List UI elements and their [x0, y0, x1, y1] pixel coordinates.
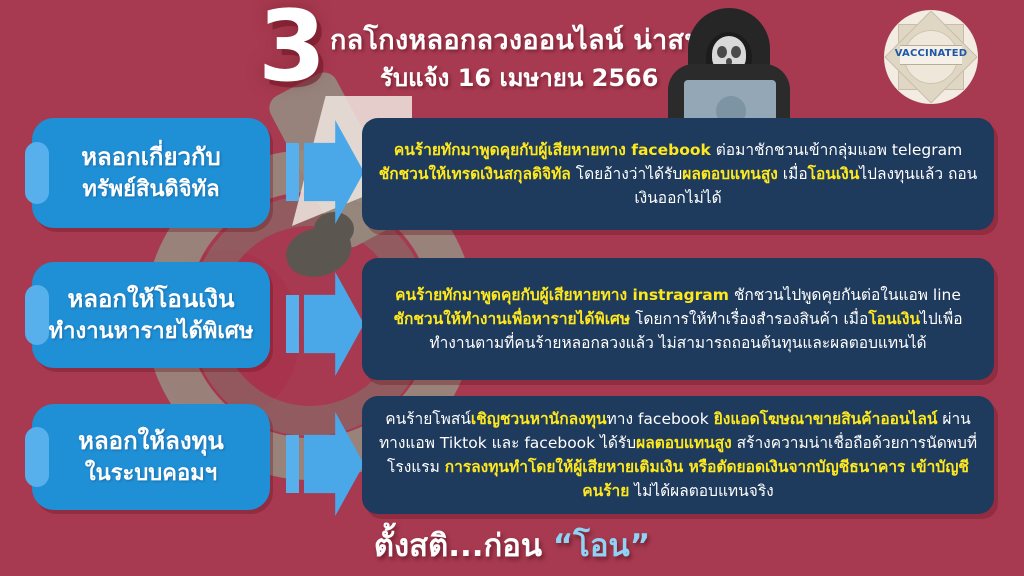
footer-slogan-text: ตั้งสติ...ก่อน: [374, 528, 553, 564]
label-tab-accent: [25, 285, 49, 344]
sidebar-item-label-line1: หลอกเกี่ยวกับ: [81, 142, 221, 172]
header: 3 กลโกงหลอกลวงออนไลน์ น่าสนใจ รับแจ้ง 16…: [0, 0, 1024, 118]
skull-eye-left: [717, 46, 727, 58]
arrow-bar: [286, 143, 299, 201]
arrow-head: [304, 120, 364, 224]
sidebar-item-computer-investment[interactable]: หลอกให้ลงทุน ในระบบคอมฯ: [32, 404, 270, 510]
sidebar-item-label-line1: หลอกให้โอนเงิน: [67, 284, 234, 314]
arrow-right-icon: [286, 120, 364, 224]
page-number-badge: 3: [258, 0, 324, 96]
label-tab-accent: [25, 427, 49, 486]
content-card-computer-investment: คนร้ายโพสน์เชิญชวนหานักลงทุนทาง facebook…: [362, 396, 994, 514]
sidebar-item-label-line2: ในระบบคอมฯ: [85, 460, 217, 489]
content-card-text: คนร้ายทักมาพูดคุยกับผู้เสียหายทาง facebo…: [376, 138, 980, 210]
sidebar-item-digital-assets[interactable]: หลอกเกี่ยวกับ ทรัพย์สินดิจิทัล: [32, 118, 270, 228]
content-card-text: คนร้ายโพสน์เชิญชวนหานักลงทุนทาง facebook…: [376, 407, 980, 503]
sidebar-item-label-line2: ทำงานหารายได้พิเศษ: [49, 318, 254, 347]
content-card-text: คนร้ายทักมาพูดคุยกับผู้เสียหายทาง instra…: [376, 283, 980, 355]
label-tab-accent: [25, 142, 49, 204]
skull-eye-right: [731, 46, 741, 58]
footer: ตั้งสติ...ก่อน “โอน”: [0, 520, 1024, 570]
arrow-head: [304, 272, 364, 376]
arrow-head: [304, 412, 364, 516]
badge-label: VACCINATED: [884, 48, 978, 59]
vaccinated-seal-icon: VACCINATED: [884, 10, 978, 104]
footer-slogan-highlight: “โอน”: [553, 528, 650, 564]
page-subtitle: รับแจ้ง 16 เมษายน 2566: [380, 58, 658, 97]
footer-slogan: ตั้งสติ...ก่อน “โอน”: [374, 520, 650, 570]
sidebar-item-label-line2: ทรัพย์สินดิจิทัล: [82, 176, 219, 205]
content-card-transfer-money: คนร้ายทักมาพูดคุยกับผู้เสียหายทาง instra…: [362, 258, 994, 380]
sidebar-item-label-line1: หลอกให้ลงทุน: [78, 426, 224, 456]
arrow-right-icon: [286, 272, 364, 376]
arrow-bar: [286, 295, 299, 353]
sidebar-item-transfer-money[interactable]: หลอกให้โอนเงิน ทำงานหารายได้พิเศษ: [32, 262, 270, 368]
hooded-hacker-skull-laptop-icon: [654, 2, 804, 120]
arrow-bar: [286, 435, 299, 493]
arrow-right-icon: [286, 412, 364, 516]
content-card-digital-assets: คนร้ายทักมาพูดคุยกับผู้เสียหายทาง facebo…: [362, 118, 994, 230]
